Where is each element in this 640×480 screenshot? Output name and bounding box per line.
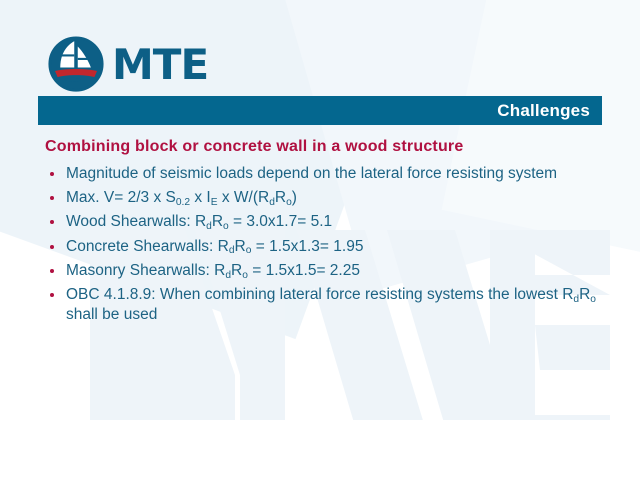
brand-logo: MTE <box>48 36 208 92</box>
mte-sailboat-circle-icon <box>48 36 104 92</box>
bullet-marker-icon <box>50 220 54 224</box>
bullet-obc-clause: OBC 4.1.8.9: When combining lateral forc… <box>45 285 615 324</box>
background-bottom-wash <box>0 420 640 480</box>
slide: MTE Challenges Combining block or concre… <box>0 0 640 480</box>
bullet-text: Wood Shearwalls: RdRo = 3.0x1.7= 5.1 <box>66 213 332 230</box>
bullet-text: Concrete Shearwalls: RdRo = 1.5x1.3= 1.9… <box>66 238 363 255</box>
bullet-marker-icon <box>50 293 54 297</box>
bullet-wood-shearwalls: Wood Shearwalls: RdRo = 3.0x1.7= 5.1 <box>45 212 615 231</box>
page-title: Challenges <box>497 101 602 121</box>
bullet-marker-icon <box>50 245 54 249</box>
slide-content: Combining block or concrete wall in a wo… <box>45 136 615 329</box>
bullet-masonry-shearwalls: Masonry Shearwalls: RdRo = 1.5x1.5= 2.25 <box>45 261 615 280</box>
brand-wordmark: MTE <box>112 44 208 86</box>
content-subheading: Combining block or concrete wall in a wo… <box>45 136 615 158</box>
bullet-concrete-shearwalls: Concrete Shearwalls: RdRo = 1.5x1.3= 1.9… <box>45 237 615 256</box>
bullet-magnitude: Magnitude of seismic loads depend on the… <box>45 164 615 183</box>
bullet-marker-icon <box>50 172 54 176</box>
bullet-marker-icon <box>50 269 54 273</box>
bullet-marker-icon <box>50 196 54 200</box>
bullet-max-v: Max. V= 2/3 x S0.2 x IE x W/(RdRo) <box>45 188 615 207</box>
bullet-text: OBC 4.1.8.9: When combining lateral forc… <box>66 286 596 322</box>
slide-title-bar: Challenges <box>38 96 602 125</box>
bullet-list: Magnitude of seismic loads depend on the… <box>45 164 615 325</box>
bullet-text: Masonry Shearwalls: RdRo = 1.5x1.5= 2.25 <box>66 262 360 279</box>
bullet-text: Magnitude of seismic loads depend on the… <box>66 165 557 182</box>
bullet-text: Max. V= 2/3 x S0.2 x IE x W/(RdRo) <box>66 189 297 206</box>
